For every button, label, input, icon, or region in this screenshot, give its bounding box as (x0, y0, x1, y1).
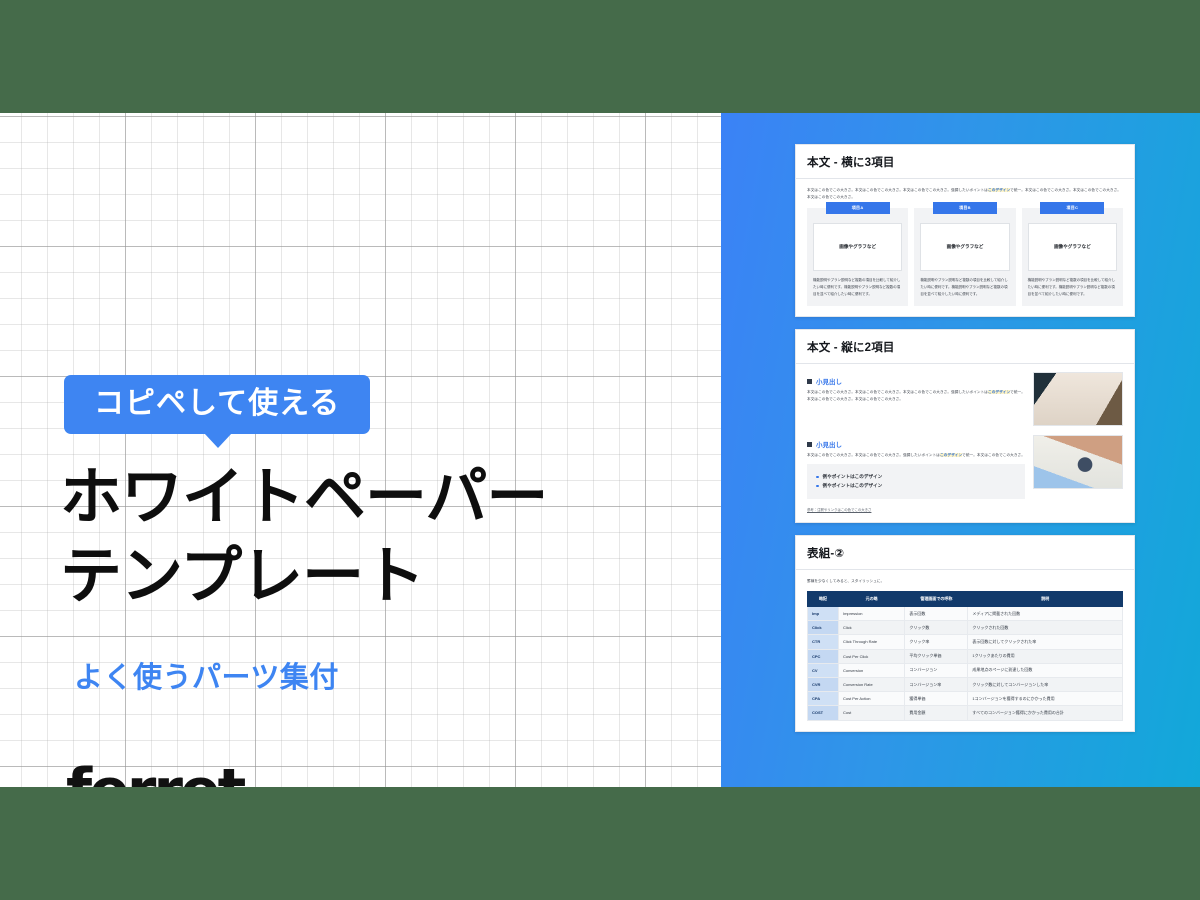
table-cell: クリックされた回数 (968, 621, 1123, 635)
column-tag: 項目A (826, 202, 890, 214)
table-cell: 1クリックあたりの費用 (968, 649, 1123, 663)
slide-body: 小見出し 本文はこの色でこの大きさ。本文はこの色でこの大きさ。本文はこの色でこの… (796, 364, 1134, 522)
slide-card-2-rows[interactable]: 本文 - 縦に2項目 小見出し 本文はこの色でこの大きさ。本文はこの色でこの大き… (795, 329, 1135, 523)
table-cell: 成果地点のページに到達した回数 (968, 663, 1123, 677)
left-grid-panel: コピペして使える ホワイトペーパー テンプレート よく使うパーツ集付 ferre… (0, 113, 721, 787)
table-cell-key: CV (808, 663, 839, 677)
table-header-cell: 管理画面での呼称 (905, 592, 968, 607)
table-row: CTR Click Through Rate クリック率 表示回数に対してクリッ… (808, 635, 1123, 649)
table-cell-key: CPA (808, 692, 839, 706)
item-text: 本文はこの色でこの大きさ。本文はこの色でこの大きさ。本文はこの色でこの大きさ。強… (807, 389, 1025, 403)
slide-title: 本文 - 横に3項目 (796, 145, 1134, 179)
column-image-placeholder: 画像やグラフなど (920, 223, 1009, 271)
sub-heading: 小見出し (807, 439, 1025, 449)
table-cell-key: Click (808, 621, 839, 635)
table-lead-text: 罫線を少なくしてみると、スタイリッシュに。 (807, 578, 1123, 585)
badge-pointer-icon (204, 433, 232, 448)
table-cell: 獲得単価 (905, 692, 968, 706)
lead-highlight: このデザイン (988, 188, 1010, 192)
right-blue-panel: 本文 - 横に3項目 本文はこの色でこの大きさ。本文はこの色でこの大きさ。本文は… (721, 113, 1200, 787)
table-cell: クリック数 (905, 621, 968, 635)
bullet-list: 例やポイントはこのデザイン 例やポイントはこのデザイン (807, 464, 1025, 499)
text-column: 小見出し 本文はこの色でこの大きさ。本文はこの色でこの大きさ。本文はこの色でこの… (807, 372, 1025, 435)
slide-title: 表組-② (796, 536, 1134, 570)
table-row: CPA Cost Per Action 獲得単価 1コンバージョンを獲得するのに… (808, 692, 1123, 706)
item-highlight: このデザイン (940, 453, 962, 457)
table-cell-key: CTR (808, 635, 839, 649)
table-cell: クリック数に対してコンバージョンした率 (968, 677, 1123, 691)
metrics-table: 略記 元の略 管理画面での呼称 説明 Imp Impression 表示回数 (807, 591, 1123, 721)
page-subtitle: よく使うパーツ集付 (74, 654, 339, 696)
table-header-cell: 説明 (968, 592, 1123, 607)
lead-part-a: 本文はこの色でこの大きさ。本文はこの色でこの大きさ。本文はこの色でこの大きさ。強… (807, 188, 988, 192)
item-text-a: 本文はこの色でこの大きさ。本文はこの色でこの大きさ。本文はこの色でこの大きさ。強… (807, 390, 988, 394)
table-cell: 表示回数に対してクリックされた率 (968, 635, 1123, 649)
slide-card-3-columns[interactable]: 本文 - 横に3項目 本文はこの色でこの大きさ。本文はこの色でこの大きさ。本文は… (795, 144, 1135, 317)
table-body: Imp Impression 表示回数 メディアに掲載された回数 Click C… (808, 607, 1123, 721)
table-cell: 平均クリック単価 (905, 649, 968, 663)
square-bullet-icon (807, 379, 812, 384)
table-row: Imp Impression 表示回数 メディアに掲載された回数 (808, 607, 1123, 621)
square-bullet-icon (807, 442, 812, 447)
top-letterbox-bar (0, 0, 1200, 113)
table-cell: クリック率 (905, 635, 968, 649)
table-cell: 費用金額 (905, 706, 968, 720)
page-title-line1: ホワイトペーパー (60, 463, 547, 532)
hand-phone-photo-thumbnail (1033, 435, 1123, 489)
column-item: 項目A 画像やグラフなど 機能説明やプラン説明など複数の項目を比較して紹介したい… (807, 208, 908, 306)
sub-heading-label: 小見出し (816, 376, 842, 386)
page-title: ホワイトペーパー テンプレート (60, 458, 710, 617)
page-title-line2: テンプレート (60, 537, 710, 616)
column-tag: 項目C (1040, 202, 1104, 214)
list-item-label: 例やポイントはこのデザイン (823, 474, 883, 480)
logo-wordmark: ferret (66, 763, 249, 787)
slide-lead-text: 本文はこの色でこの大きさ。本文はこの色でこの大きさ。本文はこの色でこの大きさ。強… (807, 187, 1123, 201)
column-text: 機能説明やプラン説明など複数の項目を比較して紹介したい時に便利です。機能説明やプ… (1028, 277, 1117, 298)
content-row: 小見出し 本文はこの色でこの大きさ。本文はこの色でこの大きさ。強調したいポイント… (807, 435, 1123, 499)
badge-label: コピペして使える (64, 375, 370, 434)
column-tag: 項目B (933, 202, 997, 214)
slide-canvas: コピペして使える ホワイトペーパー テンプレート よく使うパーツ集付 ferre… (0, 0, 1200, 900)
table-cell: コンバージョン (905, 663, 968, 677)
ferret-logo: ferret マーケターのよりどころ (66, 763, 249, 787)
dot-bullet-icon (816, 476, 819, 479)
column-image-placeholder: 画像やグラフなど (813, 223, 902, 271)
badge: コピペして使える (64, 375, 370, 434)
table-header-cell: 略記 (808, 592, 839, 607)
table-cell-key: COST (808, 706, 839, 720)
table-cell: Impression (838, 607, 904, 621)
column-image-placeholder: 画像やグラフなど (1028, 223, 1117, 271)
slide-preview-stack: 本文 - 横に3項目 本文はこの色でこの大きさ。本文はこの色でこの大きさ。本文は… (795, 144, 1135, 744)
table-cell: Cost (838, 706, 904, 720)
sub-heading: 小見出し (807, 376, 1025, 386)
list-item: 例やポイントはこのデザイン (816, 483, 1016, 489)
table-cell-key: Imp (808, 607, 839, 621)
list-item-label: 例やポイントはこのデザイン (823, 483, 883, 489)
table-cell-key: CVR (808, 677, 839, 691)
content-row: 小見出し 本文はこの色でこの大きさ。本文はこの色でこの大きさ。本文はこの色でこの… (807, 372, 1123, 435)
table-cell: Click Through Rate (838, 635, 904, 649)
table-cell: Click (838, 621, 904, 635)
dot-bullet-icon (816, 485, 819, 488)
list-item: 例やポイントはこのデザイン (816, 474, 1016, 480)
table-header-row: 略記 元の略 管理画面での呼称 説明 (808, 592, 1123, 607)
column-item: 項目C 画像やグラフなど 機能説明やプラン説明など複数の項目を比較して紹介したい… (1022, 208, 1123, 306)
table-cell: コンバージョン率 (905, 677, 968, 691)
slide-title: 本文 - 縦に2項目 (796, 330, 1134, 364)
table-cell: Conversion (838, 663, 904, 677)
slide-body: 罫線を少なくしてみると、スタイリッシュに。 略記 元の略 管理画面での呼称 説明 (796, 570, 1134, 731)
table-cell: すべてのコンバージョン獲得にかかった費用の合計 (968, 706, 1123, 720)
slide-body: 本文はこの色でこの大きさ。本文はこの色でこの大きさ。本文はこの色でこの大きさ。強… (796, 179, 1134, 316)
column-text: 機能説明やプラン説明など複数の項目を比較して紹介したい時に便利です。機能説明やプ… (920, 277, 1009, 298)
item-text: 本文はこの色でこの大きさ。本文はこの色でこの大きさ。強調したいポイントはこのデザ… (807, 452, 1025, 459)
three-column-group: 項目A 画像やグラフなど 機能説明やプラン説明など複数の項目を比較して紹介したい… (807, 208, 1123, 306)
table-cell-key: CPC (808, 649, 839, 663)
column-item: 項目B 画像やグラフなど 機能説明やプラン説明など複数の項目を比較して紹介したい… (914, 208, 1015, 306)
table-cell: Cost Per Action (838, 692, 904, 706)
footnote-link[interactable]: 参考：注釈やリンクはこの色でこの大きさ (807, 507, 1123, 512)
text-column: 小見出し 本文はこの色でこの大きさ。本文はこの色でこの大きさ。強調したいポイント… (807, 435, 1025, 499)
table-row: CVR Conversion Rate コンバージョン率 クリック数に対してコン… (808, 677, 1123, 691)
bottom-letterbox-bar (0, 787, 1200, 900)
table-cell: Conversion Rate (838, 677, 904, 691)
table-row: CV Conversion コンバージョン 成果地点のページに到達した回数 (808, 663, 1123, 677)
column-text: 機能説明やプラン説明など複数の項目を比較して紹介したい時に便利です。機能説明やプ… (813, 277, 902, 298)
table-cell: 表示回数 (905, 607, 968, 621)
item-text-a: 本文はこの色でこの大きさ。本文はこの色でこの大きさ。強調したいポイントは (807, 453, 940, 457)
sub-heading-label: 小見出し (816, 439, 842, 449)
table-cell: Cost Per Click (838, 649, 904, 663)
table-row: CPC Cost Per Click 平均クリック単価 1クリックあたりの費用 (808, 649, 1123, 663)
table-row: COST Cost 費用金額 すべてのコンバージョン獲得にかかった費用の合計 (808, 706, 1123, 720)
table-row: Click Click クリック数 クリックされた回数 (808, 621, 1123, 635)
item-text-b: で統一。本文はこの色でこの大きさ。 (962, 453, 1025, 457)
item-highlight: このデザイン (988, 390, 1010, 394)
table-cell: 1コンバージョンを獲得するのにかかった費用 (968, 692, 1123, 706)
slide-card-table[interactable]: 表組-② 罫線を少なくしてみると、スタイリッシュに。 略記 元の略 管理画面での… (795, 535, 1135, 732)
desk-photo-thumbnail (1033, 372, 1123, 426)
table-header-cell: 元の略 (838, 592, 904, 607)
table-cell: メディアに掲載された回数 (968, 607, 1123, 621)
